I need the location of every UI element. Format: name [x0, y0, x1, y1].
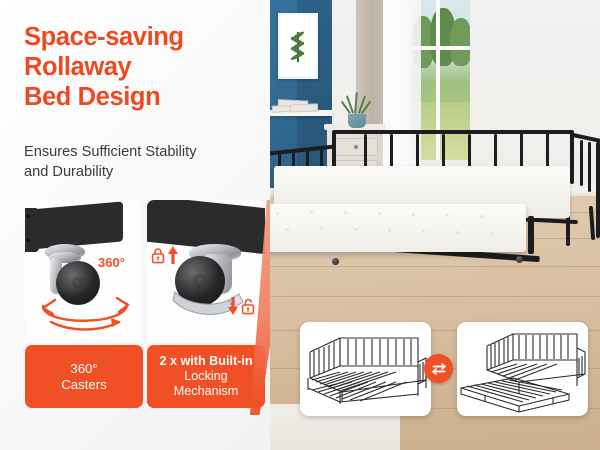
trundle-extended-diagram[interactable] [457, 322, 588, 416]
subheadline: Ensures Sufficient Stability and Durabil… [24, 142, 256, 182]
trundle-mattress [270, 204, 526, 252]
trundle-frame-side [528, 216, 534, 254]
arm-spindle [588, 142, 591, 192]
feature-card-locking-casters: 2 x with Built-in Locking Mechanism [147, 200, 265, 408]
bed-line-art-extended [457, 322, 588, 416]
subheadline-line-2: and Durability [24, 162, 256, 182]
trundle-caster-icon [332, 258, 339, 265]
padlock-open-icon [241, 298, 255, 315]
bed-leg-bracket [25, 201, 123, 250]
left-info-panel: Space-saving Rollaway Bed Design Ensures… [0, 0, 272, 450]
caption-line-1: 360° [70, 361, 97, 377]
tree [450, 18, 470, 66]
screw-hole-icon [26, 214, 31, 219]
potted-plant-foliage [344, 92, 370, 116]
subheadline-line-1: Ensures Sufficient Stability [24, 142, 256, 162]
books [272, 99, 318, 111]
caption-line-1: 2 x with Built-in [159, 354, 252, 369]
feature-caption: 360° Casters [25, 345, 143, 408]
swap-arrows-icon [424, 354, 453, 383]
backrest-top-rail [334, 130, 574, 134]
product-feature-banner: Space-saving Rollaway Bed Design Ensures… [0, 0, 600, 450]
right-arm-post [596, 142, 600, 238]
page-title: Space-saving Rollaway Bed Design [24, 22, 260, 112]
trundle-caster-icon [516, 256, 523, 263]
bed-line-art-stowed [300, 322, 431, 416]
window-mullion [436, 0, 440, 160]
feature-caption: 2 x with Built-in Locking Mechanism [147, 345, 265, 408]
feature-card-360-casters: 360° 360° Casters [25, 200, 143, 408]
locking-caster-photo [147, 200, 265, 343]
lock-released-indicator [227, 296, 255, 316]
double-arrow-glyph [430, 361, 448, 377]
leaf-illustration [297, 32, 299, 62]
headline-line-3: Bed Design [24, 82, 260, 112]
caption-line-2: Locking [184, 369, 227, 384]
padlock-closed-icon [151, 247, 165, 264]
trundle-stowed-diagram[interactable] [300, 322, 431, 416]
plant-pot [348, 114, 366, 128]
caption-line-2: Casters [61, 377, 106, 393]
nightstand-drawer [334, 138, 378, 156]
quilt-stitching [270, 204, 526, 252]
drawer-knob-icon [354, 145, 358, 149]
framed-botanical-art [278, 13, 318, 79]
screw-hole-icon [26, 238, 31, 243]
lock-engaged-indicator [151, 245, 179, 265]
caption-line-3: Mechanism [174, 384, 238, 399]
rotation-arrow-icon [33, 286, 137, 338]
headline-line-2: Rollaway [24, 52, 260, 82]
arrow-up-icon [167, 245, 179, 265]
swivel-caster-photo: 360° [25, 200, 143, 343]
backrest-post [570, 132, 574, 184]
headline-line-1: Space-saving [24, 22, 260, 52]
trundle-comparison-inset [300, 322, 588, 416]
arm-spindle [580, 140, 583, 186]
rotation-degrees-label: 360° [98, 255, 125, 270]
arrow-down-icon [227, 296, 239, 316]
